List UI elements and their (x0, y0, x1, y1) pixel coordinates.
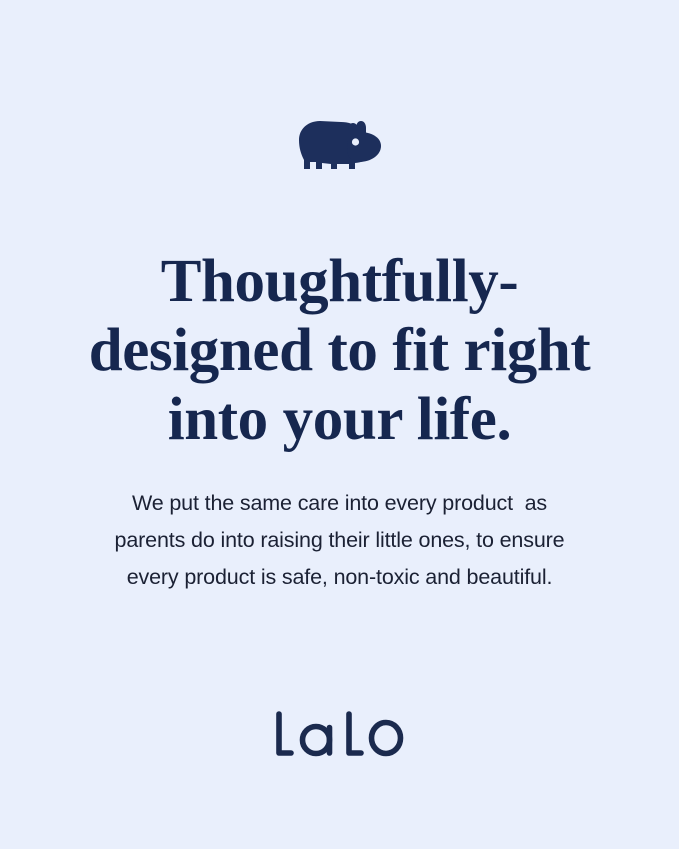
headline-line-3: into your life. (0, 385, 679, 454)
hippo-icon (297, 118, 383, 172)
body-copy: We put the same care into every product … (0, 485, 679, 596)
body-copy-line-1: We put the same care into every product … (0, 485, 679, 522)
body-copy-line-2: parents do into raising their little one… (0, 522, 679, 559)
headline-line-1: Thoughtfully- (0, 247, 679, 316)
headline: Thoughtfully- designed to fit right into… (0, 247, 679, 454)
brand-promo-card: Thoughtfully- designed to fit right into… (0, 0, 679, 849)
body-copy-line-3: every product is safe, non-toxic and bea… (0, 559, 679, 596)
headline-line-2: designed to fit right (0, 316, 679, 385)
lalo-wordmark: LALO (274, 708, 406, 762)
